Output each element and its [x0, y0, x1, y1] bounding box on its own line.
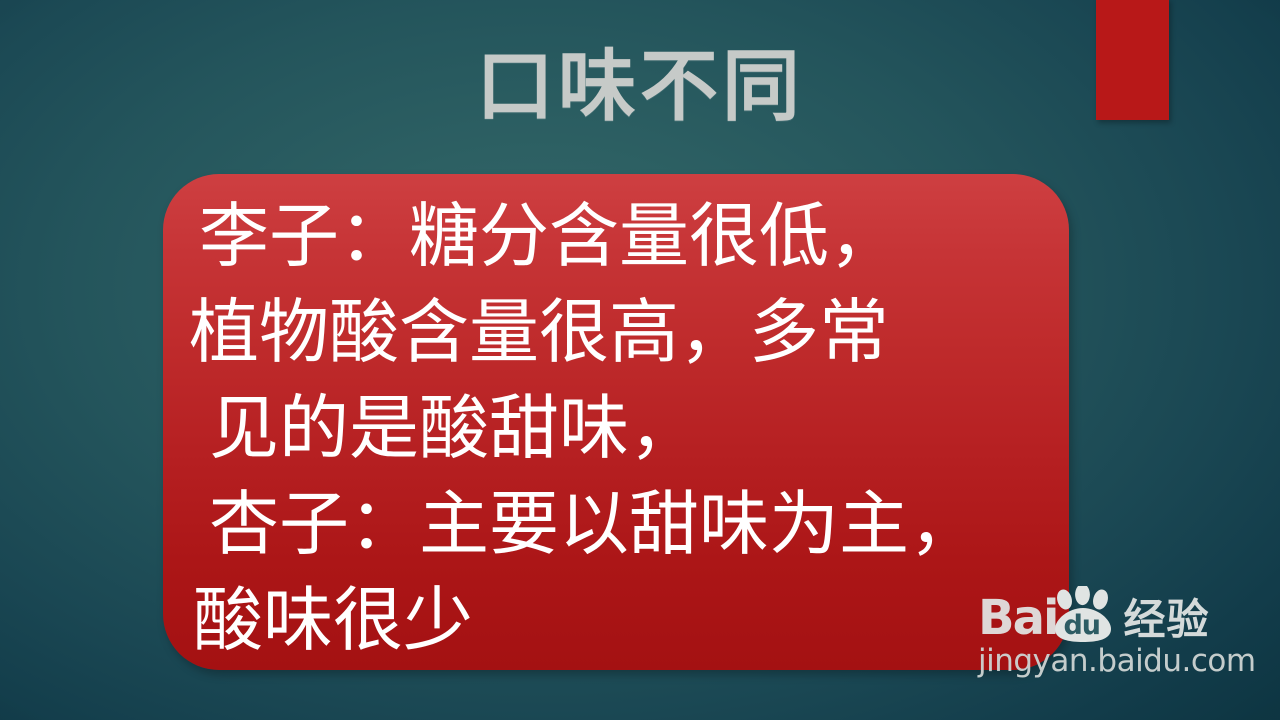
watermark-logo-row: Bai du 经验	[978, 586, 1256, 642]
watermark-url: jingyan.baidu.com	[978, 644, 1256, 678]
baidu-jingyan-watermark: Bai du 经验 jingyan.baidu.com	[978, 586, 1256, 678]
content-card-text: 李子：糖分含量很低， 植物酸含量很高，多常 见的是酸甜味， 杏子：主要以甜味为主…	[163, 174, 1069, 668]
paw-du-label: du	[1063, 612, 1100, 639]
baidu-wordmark: Bai	[978, 594, 1057, 642]
paw-print-icon: du	[1051, 586, 1117, 642]
content-line: 酸味很少	[163, 572, 1069, 668]
content-card: 李子：糖分含量很低， 植物酸含量很高，多常 见的是酸甜味， 杏子：主要以甜味为主…	[163, 174, 1069, 670]
slide-canvas: 口味不同 李子：糖分含量很低， 植物酸含量很高，多常 见的是酸甜味， 杏子：主要…	[0, 0, 1280, 720]
content-line: 李子：糖分含量很低，	[163, 188, 1069, 284]
jingyan-product-label: 经验	[1123, 598, 1209, 642]
content-line: 见的是酸甜味，	[163, 380, 1069, 476]
content-line: 杏子：主要以甜味为主，	[163, 476, 1069, 572]
page-title: 口味不同	[0, 44, 1280, 130]
content-line: 植物酸含量很高，多常	[163, 284, 1069, 380]
